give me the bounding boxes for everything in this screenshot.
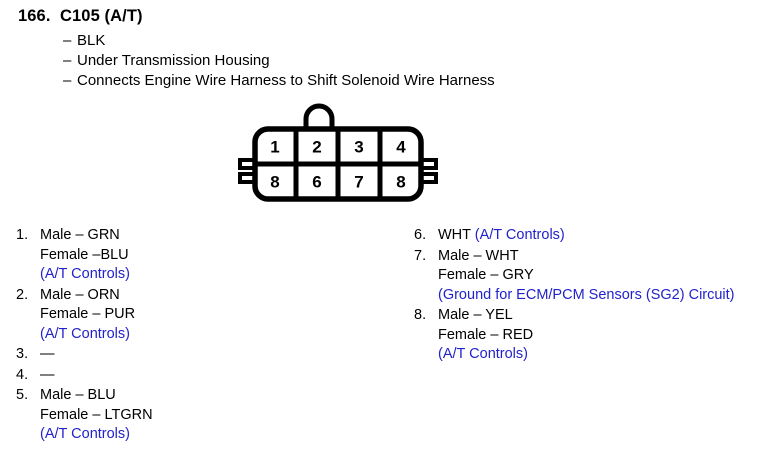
connector-svg: 1 2 3 4 8 6 7 8 [228,103,448,213]
pin-female-wire: Female – GRY [438,266,764,286]
pin-cell-top-2: 2 [312,138,321,157]
pin-entry: 1. Male – GRN Female –BLU (A/T Controls) [16,226,396,285]
connector-number: 166. [18,7,60,26]
pin-detail: — [40,366,396,386]
pin-wire-line: WHT (A/T Controls) [438,226,764,246]
description-text: BLK [77,31,105,51]
pin-number: 6. [414,226,438,246]
pin-entry: 2. Male – ORN Female – PUR (A/T Controls… [16,286,396,345]
pin-number: 7. [414,247,438,267]
pin-cell-bottom-3: 7 [354,173,363,192]
pin-circuit: (A/T Controls) [438,345,764,365]
pin-list-left: 1. Male – GRN Female –BLU (A/T Controls)… [16,226,396,446]
description-text: Under Transmission Housing [77,51,270,71]
pin-number: 3. [16,345,40,365]
pin-circuit: (A/T Controls) [40,325,396,345]
pin-male-wire: Male – BLU [40,386,396,406]
pin-detail: Male – BLU Female – LTGRN (A/T Controls) [40,386,396,445]
description-item: – Connects Engine Wire Harness to Shift … [63,71,738,91]
pin-male-wire: Male – GRN [40,226,396,246]
connector-header: 166. C105 (A/T) – BLK – Under Transmissi… [18,7,738,91]
description-item: – BLK [63,31,738,51]
pin-detail: — [40,345,396,365]
dash-bullet-icon: – [63,51,77,71]
pin-entry: 3. — [16,345,396,365]
pin-circuit: (A/T Controls) [475,227,565,243]
pin-circuit: (Ground for ECM/PCM Sensors (SG2) Circui… [438,286,764,306]
description-item: – Under Transmission Housing [63,51,738,71]
pin-cell-top-1: 1 [270,138,279,157]
pin-entry: 7. Male – WHT Female – GRY (Ground for E… [414,247,764,306]
pin-unused-marker: — [40,366,396,386]
pin-number: 4. [16,366,40,386]
connector-diagram: 1 2 3 4 8 6 7 8 [228,103,448,213]
pin-male-wire: Male – YEL [438,306,764,326]
pin-male-wire: Male – WHT [438,247,764,267]
pin-number: 1. [16,226,40,246]
pin-cell-bottom-4: 8 [396,173,405,192]
connector-name: C105 (A/T) [60,7,143,26]
dash-bullet-icon: – [63,71,77,91]
pin-detail: Male – GRN Female –BLU (A/T Controls) [40,226,396,285]
pin-number: 5. [16,386,40,406]
pin-male-wire: Male – ORN [40,286,396,306]
dash-bullet-icon: – [63,31,77,51]
description-text: Connects Engine Wire Harness to Shift So… [77,71,495,91]
pin-female-wire: Female – RED [438,326,764,346]
pin-detail: WHT (A/T Controls) [438,226,764,246]
pin-number: 8. [414,306,438,326]
pin-entry: 8. Male – YEL Female – RED (A/T Controls… [414,306,764,365]
pin-detail: Male – WHT Female – GRY (Ground for ECM/… [438,247,764,306]
pin-unused-marker: — [40,345,396,365]
pin-circuit: (A/T Controls) [40,265,396,285]
pin-detail: Male – ORN Female – PUR (A/T Controls) [40,286,396,345]
pin-detail: Male – YEL Female – RED (A/T Controls) [438,306,764,365]
pin-list-right: 6. WHT (A/T Controls) 7. Male – WHT Fema… [414,226,764,366]
pin-female-wire: Female – LTGRN [40,406,396,426]
pin-wire-color: WHT [438,227,475,243]
pin-cell-top-4: 4 [396,138,406,157]
connector-top-tab-icon [306,106,332,129]
pin-entry: 6. WHT (A/T Controls) [414,226,764,246]
page-title: 166. C105 (A/T) [18,7,738,26]
pin-female-wire: Female –BLU [40,246,396,266]
pin-number: 2. [16,286,40,306]
pin-cell-bottom-2: 6 [312,173,321,192]
pin-cell-bottom-1: 8 [270,173,279,192]
pin-entry: 5. Male – BLU Female – LTGRN (A/T Contro… [16,386,396,445]
pin-cell-top-3: 3 [354,138,363,157]
pin-entry: 4. — [16,366,396,386]
pin-female-wire: Female – PUR [40,305,396,325]
pin-circuit: (A/T Controls) [40,425,396,445]
connector-description-list: – BLK – Under Transmission Housing – Con… [63,31,738,91]
